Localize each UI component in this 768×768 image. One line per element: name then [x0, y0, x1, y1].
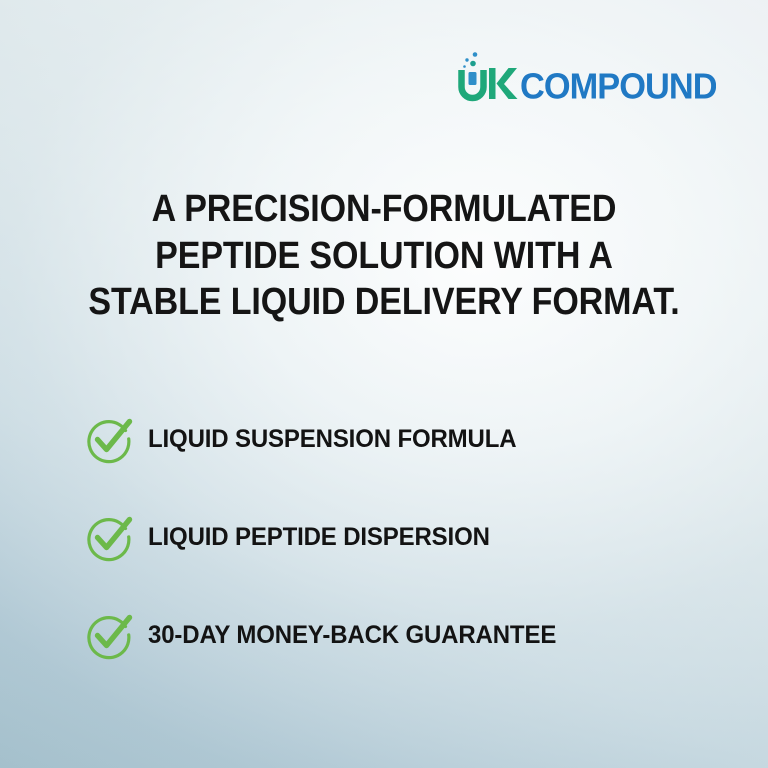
uk-compounding-logo-icon: COMPOUNDING [458, 50, 716, 102]
logo-bubble-top-icon [473, 52, 478, 57]
logo-bubble-mid-icon [465, 58, 468, 61]
list-item: LIQUID PEPTIDE DISPERSION [84, 506, 728, 568]
logo-wordmark: COMPOUNDING [520, 67, 716, 102]
page-title: A PRECISION-FORMULATED PEPTIDE SOLUTION … [87, 186, 681, 326]
logo-bubble-low-icon [470, 61, 476, 67]
logo-bubble-small-icon [463, 65, 466, 68]
check-circle-icon [84, 512, 134, 562]
list-item: 30-DAY MONEY-BACK GUARANTEE [84, 604, 728, 666]
feature-label: LIQUID SUSPENSION FORMULA [148, 425, 516, 454]
promo-poster: COMPOUNDING A PRECISION-FORMULATED PEPTI… [0, 0, 768, 768]
feature-label: LIQUID PEPTIDE DISPERSION [148, 523, 490, 552]
list-item: LIQUID SUSPENSION FORMULA [84, 408, 728, 470]
brand-logo[interactable]: COMPOUNDING [458, 46, 716, 102]
feature-list: LIQUID SUSPENSION FORMULA LIQUID PEPTIDE… [84, 408, 728, 666]
check-circle-icon [84, 610, 134, 660]
check-circle-icon [84, 414, 134, 464]
feature-label: 30-DAY MONEY-BACK GUARANTEE [148, 621, 556, 650]
logo-k-icon [489, 68, 518, 99]
logo-u-testtube-icon [462, 70, 484, 98]
